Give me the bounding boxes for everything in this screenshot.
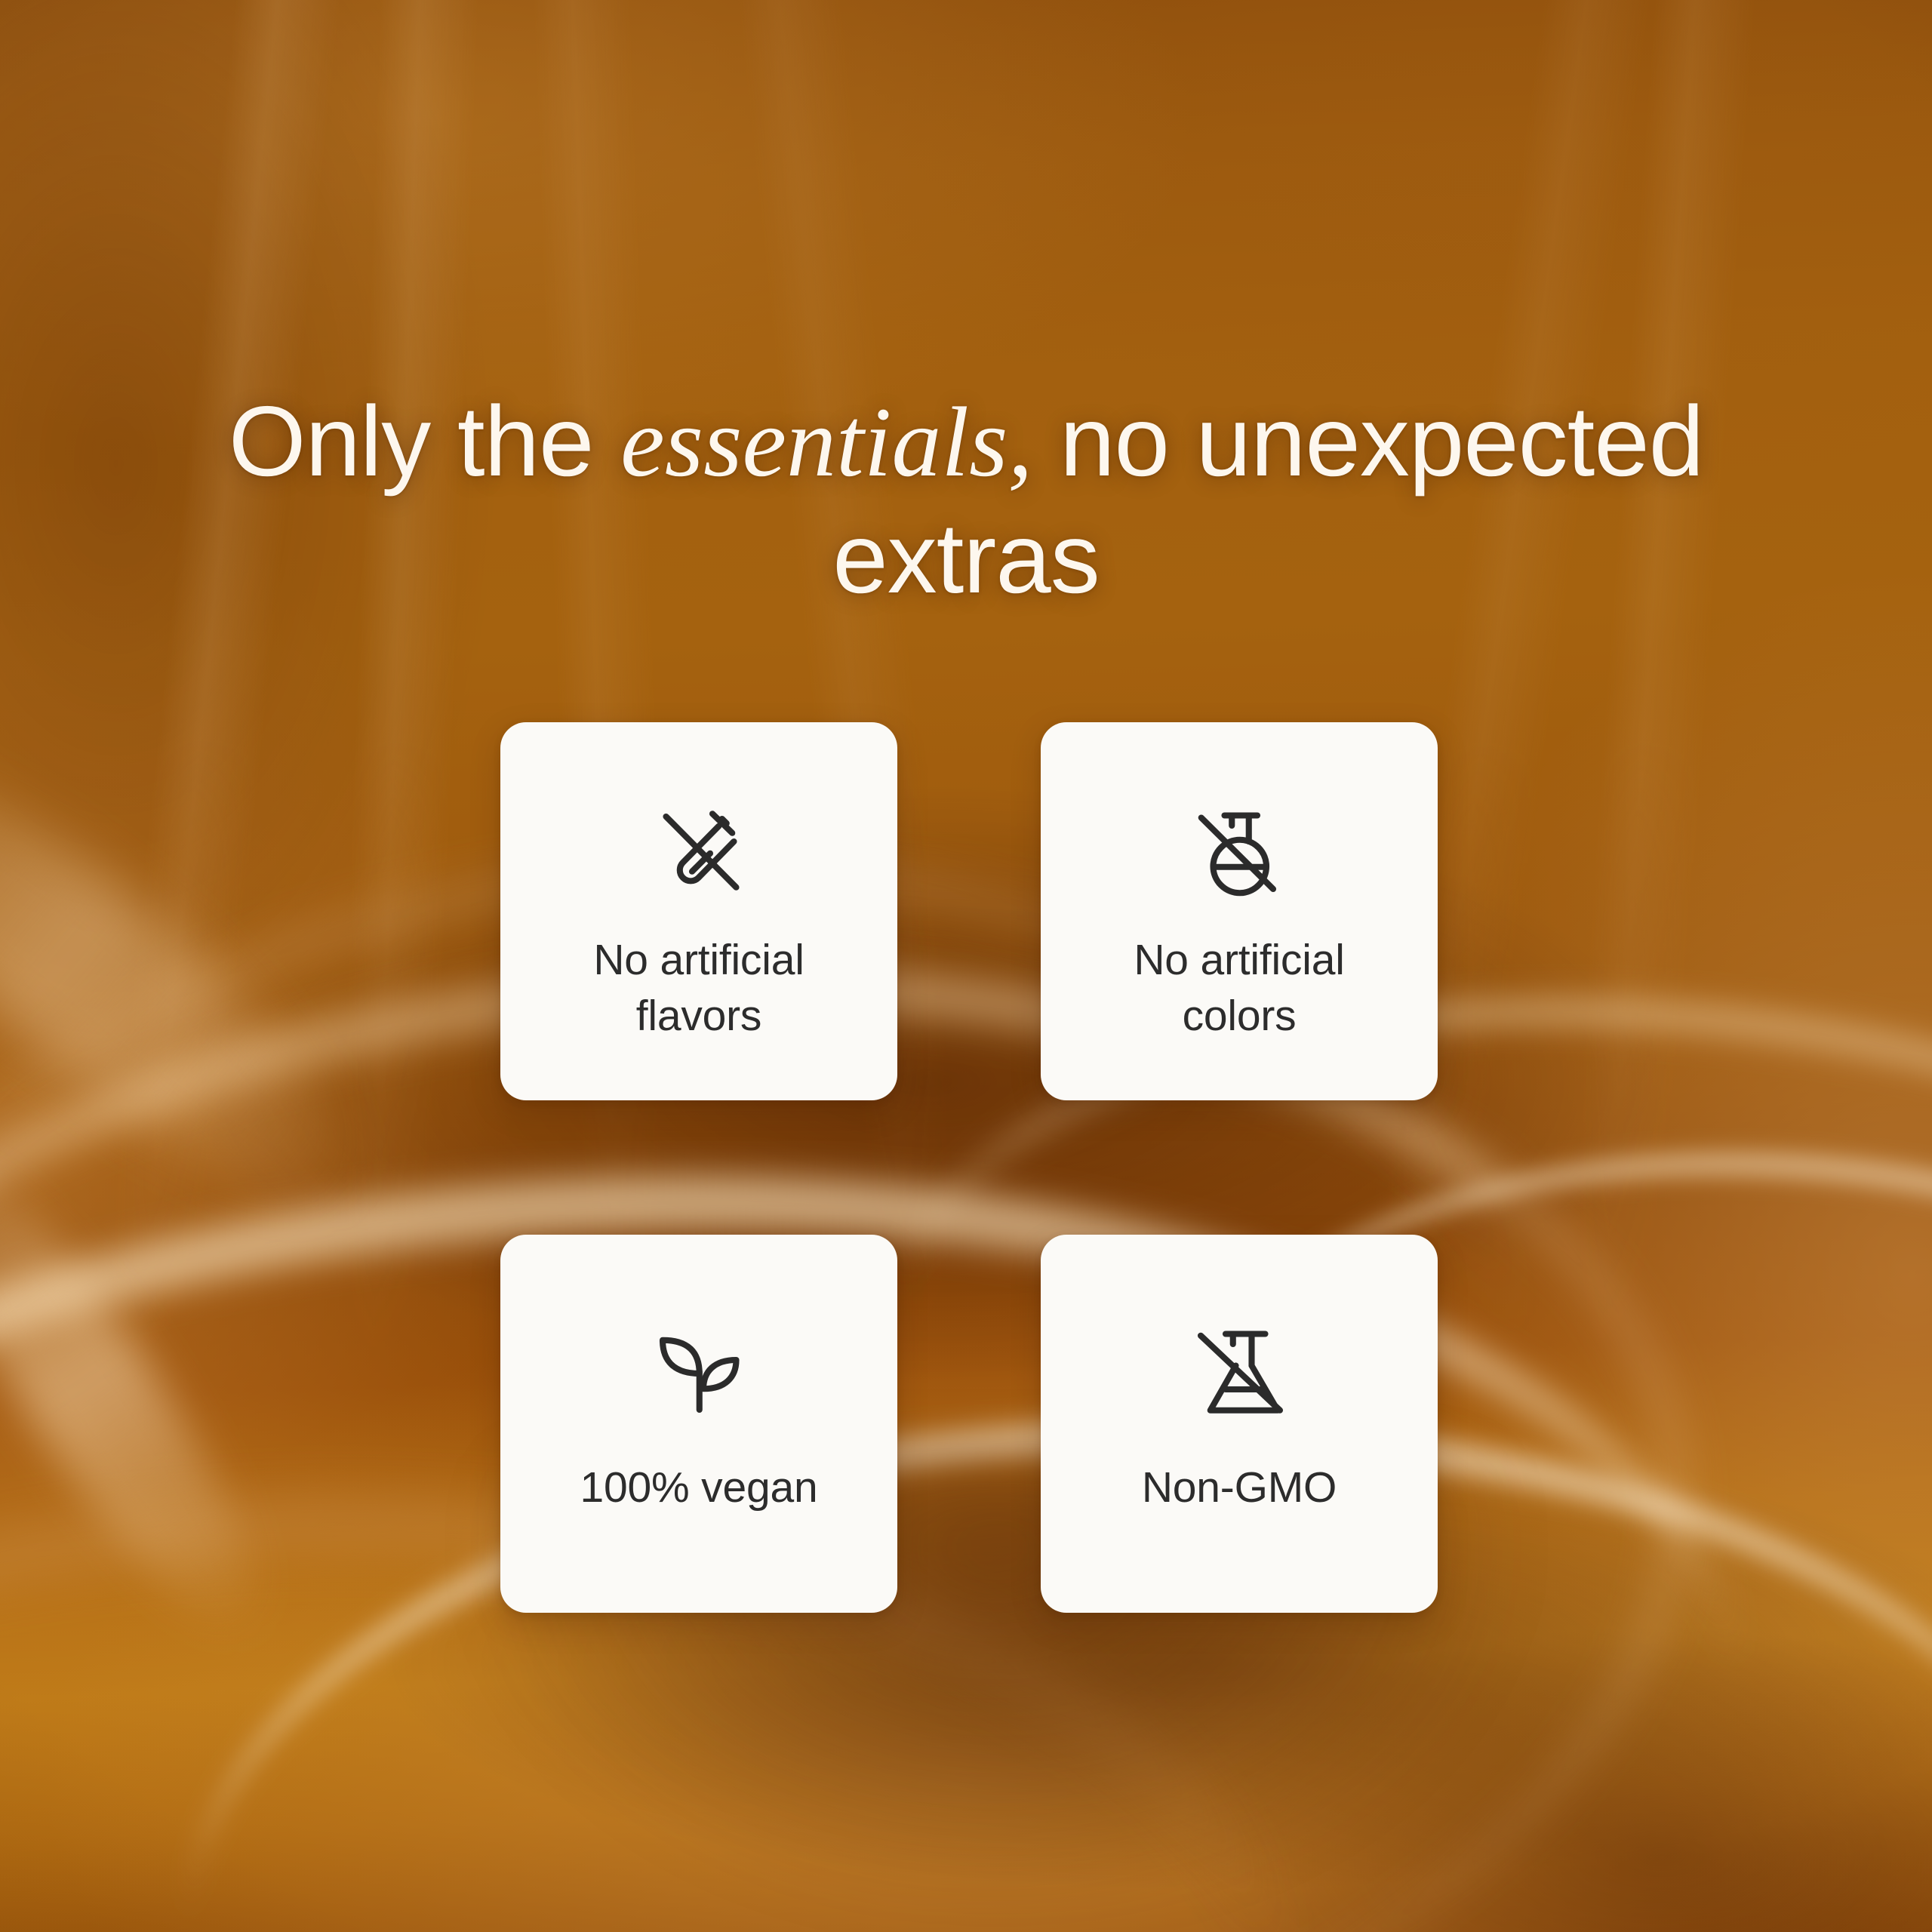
non-gmo-icon <box>1183 1315 1296 1428</box>
feature-card-label: No artificialcolors <box>1060 932 1418 1044</box>
feature-card-label-line2: flavors <box>636 992 761 1040</box>
page-title: Only the essentials, no unexpected extra… <box>0 383 1932 615</box>
feature-card-label-line1: No artificial <box>593 936 804 984</box>
feature-card-label: No artificialflavors <box>520 932 878 1044</box>
feature-card-no-artificial-colors[interactable]: No artificialcolors <box>1041 722 1438 1100</box>
vegan-sprout-icon <box>642 1315 755 1428</box>
no-artificial-colors-icon <box>1183 796 1296 909</box>
feature-card-label-line1: No artificial <box>1134 936 1344 984</box>
caramel-highlight-streak <box>0 693 407 1263</box>
feature-card-non-gmo[interactable]: Non-GMO <box>1041 1235 1438 1613</box>
feature-card-label-line2: colors <box>1183 992 1297 1040</box>
promo-graphic: Only the essentials, no unexpected extra… <box>0 0 1932 1932</box>
feature-card-grid: No artificialflavors No a <box>500 722 1438 1613</box>
feature-card-no-artificial-flavors[interactable]: No artificialflavors <box>500 722 897 1100</box>
feature-card-label: 100% vegan <box>520 1460 878 1515</box>
no-artificial-flavors-icon <box>642 796 755 909</box>
feature-card-vegan[interactable]: 100% vegan <box>500 1235 897 1613</box>
headline-emphasis: essentials, <box>620 386 1032 497</box>
feature-card-label: Non-GMO <box>1060 1460 1418 1515</box>
caramel-highlight-streak <box>0 1118 304 1666</box>
headline-text-before: Only the <box>229 386 620 497</box>
